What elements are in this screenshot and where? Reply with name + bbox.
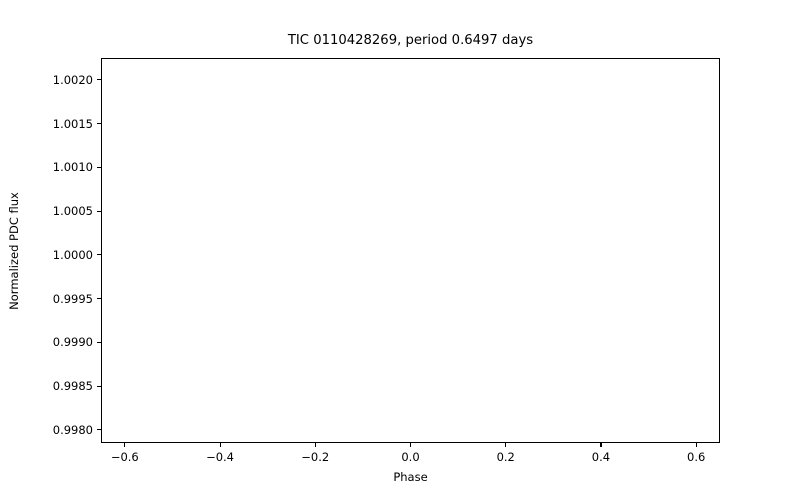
x-tick-mark: [505, 443, 506, 447]
y-tick-mark: [97, 79, 101, 80]
scatter-plot: [102, 59, 720, 443]
y-axis-label: Normalized PDC flux: [7, 192, 21, 310]
y-tick-mark: [97, 386, 101, 387]
plot-area: [101, 58, 720, 443]
x-axis-label: Phase: [101, 470, 720, 484]
y-tick-mark: [97, 123, 101, 124]
x-tick-label: −0.4: [190, 450, 250, 465]
x-tick-label: −0.6: [95, 450, 155, 465]
x-tick-mark: [315, 443, 316, 447]
y-tick-mark: [97, 429, 101, 430]
y-tick-label: 1.0020: [33, 73, 93, 87]
y-tick-label: 1.0015: [33, 117, 93, 131]
x-tick-mark: [220, 443, 221, 447]
y-tick-label: 0.9980: [33, 423, 93, 437]
x-tick-label: 0.2: [476, 450, 536, 465]
y-tick-label: 0.9985: [33, 379, 93, 393]
y-tick-mark: [97, 211, 101, 212]
y-tick-label: 0.9990: [33, 335, 93, 349]
y-tick-label: 1.0000: [33, 248, 93, 262]
y-tick-mark: [97, 254, 101, 255]
x-tick-label: 0.6: [666, 450, 726, 465]
x-tick-mark: [696, 443, 697, 447]
x-tick-mark: [410, 443, 411, 447]
y-tick-label: 1.0005: [33, 204, 93, 218]
y-tick-label: 1.0010: [33, 160, 93, 174]
page-title: TIC 0110428269, period 0.6497 days: [101, 33, 720, 48]
y-tick-mark: [97, 167, 101, 168]
x-tick-label: −0.2: [285, 450, 345, 465]
x-tick-label: 0.0: [381, 450, 441, 465]
x-tick-mark: [124, 443, 125, 447]
y-tick-mark: [97, 342, 101, 343]
y-tick-label: 0.9995: [33, 292, 93, 306]
x-tick-mark: [600, 443, 601, 447]
x-tick-label: 0.4: [571, 450, 631, 465]
y-axis-label-container: Normalized PDC flux: [0, 58, 28, 443]
y-tick-mark: [97, 298, 101, 299]
figure-canvas: TIC 0110428269, period 0.6497 days Norma…: [0, 0, 800, 500]
